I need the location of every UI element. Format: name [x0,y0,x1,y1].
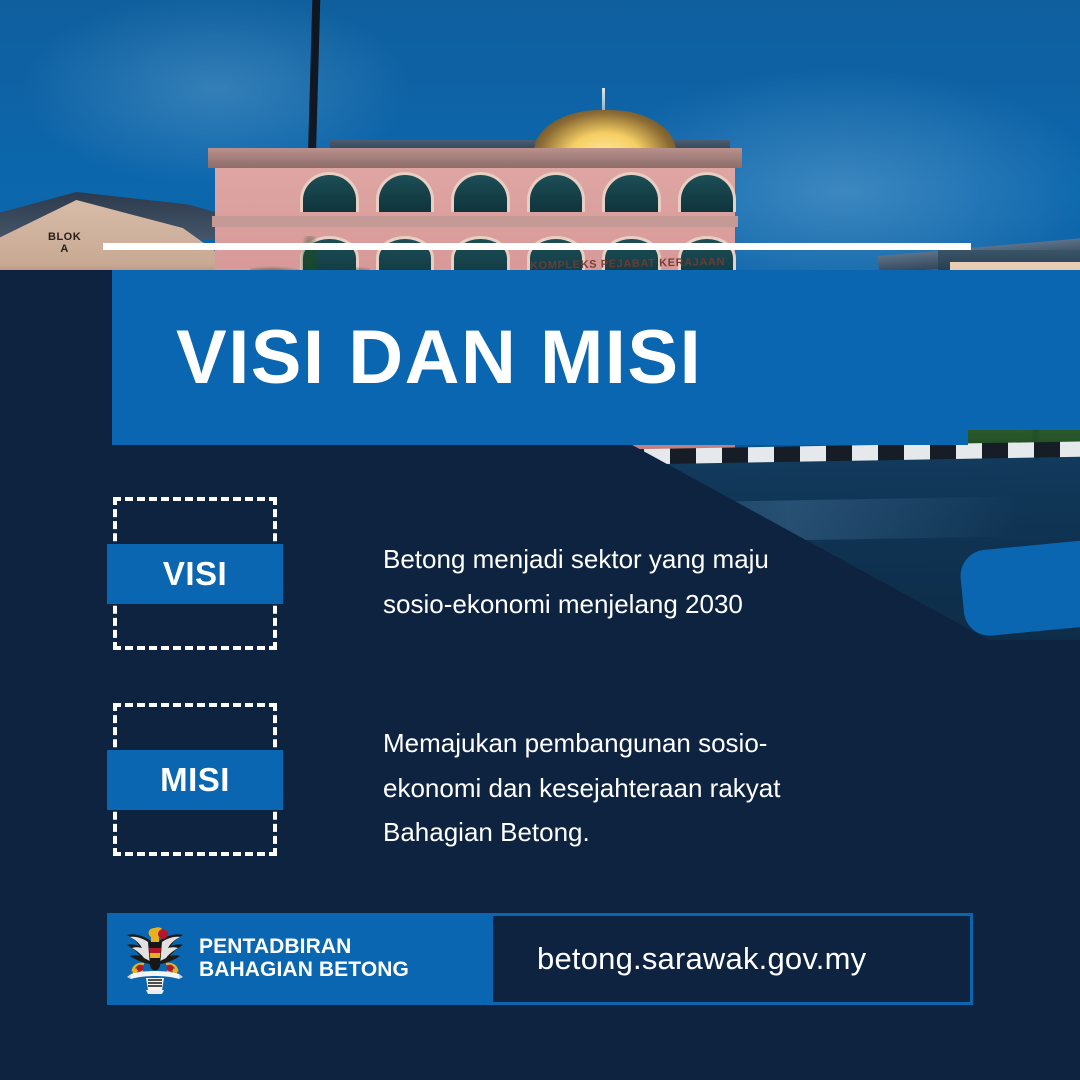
poster: BLOK A KOMPLEKS PEJABAT KERAJAAN [0,0,1080,1080]
section-misi: MISI Memajukan pembangunan sosio- ekonom… [107,703,780,856]
accent-block-right [968,270,1080,430]
misi-body: Memajukan pembangunan sosio- ekonomi dan… [383,721,780,855]
footer-brand-text: PENTADBIRAN BAHAGIAN BETONG [199,936,409,981]
complex-cornice-lower [212,216,738,227]
visi-tag-label: VISI [163,555,227,593]
blok-label-line2: A [60,243,68,255]
title-divider-rule [103,243,971,250]
misi-tag-label: MISI [160,761,230,799]
visi-body: Betong menjadi sektor yang maju sosio-ek… [383,537,769,626]
sarawak-coat-of-arms-icon [124,922,186,996]
misi-tag-group: MISI [107,703,277,856]
brand-line-2: BAHAGIAN BETONG [199,959,409,982]
misi-line: Memajukan pembangunan sosio- [383,721,780,766]
arch-window [527,172,586,212]
blok-label-line1: BLOK [48,231,81,243]
footer-brand: PENTADBIRAN BAHAGIAN BETONG [107,913,490,1005]
title-banner: VISI DAN MISI [112,270,968,445]
arch-window [300,172,359,212]
accent-shape-bottom-right [958,540,1080,638]
misi-line: ekonomi dan kesejahteraan rakyat [383,766,780,811]
footer-bar: PENTADBIRAN BAHAGIAN BETONG betong.saraw… [107,913,973,1005]
arch-window [451,172,510,212]
section-visi: VISI Betong menjadi sektor yang maju sos… [107,497,769,650]
visi-tag-group: VISI [107,497,277,650]
visi-line: sosio-ekonomi menjelang 2030 [383,582,769,627]
visi-tag-bar: VISI [107,544,283,604]
misi-line: Bahagian Betong. [383,810,780,855]
website-url[interactable]: betong.sarawak.gov.my [537,941,866,977]
arch-window [376,172,435,212]
arch-window [678,172,737,212]
visi-line: Betong menjadi sektor yang maju [383,537,769,582]
complex-cornice-upper [208,148,742,168]
misi-tag-bar: MISI [107,750,283,810]
left-building-label: BLOK A [48,232,81,255]
arch-window [602,172,661,212]
brand-line-1: PENTADBIRAN [199,936,409,959]
website-url-panel[interactable]: betong.sarawak.gov.my [490,913,973,1005]
page-title: VISI DAN MISI [176,320,702,396]
complex-arch-row-upper [300,172,736,212]
overlay-left-fill [0,270,112,670]
